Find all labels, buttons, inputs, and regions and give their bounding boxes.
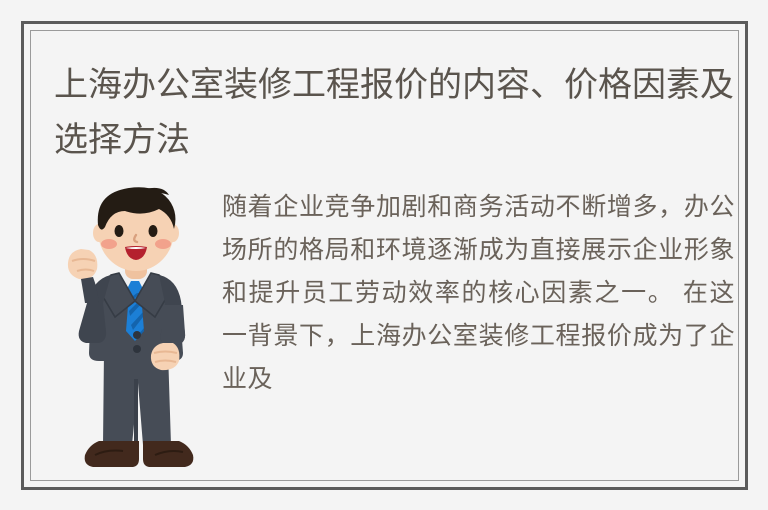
article-summary-text: 随着企业竞争加剧和商务活动不断增多，办公场所的格局和环境逐渐成为直接展示企业形象… (222, 186, 735, 401)
right-blush (155, 239, 171, 249)
jacket-button-bottom (133, 345, 141, 353)
raised-forearm (81, 277, 99, 303)
right-eye (149, 225, 158, 237)
jacket-button-top (133, 331, 141, 339)
hip-hand (151, 343, 179, 370)
right-shoe (143, 441, 193, 467)
article-title: 上海办公室装修工程报价的内容、价格因素及选择方法 (54, 58, 734, 168)
left-blush (101, 239, 117, 249)
left-shoe (85, 441, 139, 467)
trouser-center-seam (134, 379, 138, 445)
article-card: 上海办公室装修工程报价的内容、价格因素及选择方法 (21, 21, 748, 490)
left-eye (115, 225, 124, 237)
raised-fist (68, 249, 97, 279)
article-card-inner-border: 上海办公室装修工程报价的内容、价格因素及选择方法 (30, 30, 739, 481)
businessman-cheering-illustration (59, 183, 213, 483)
right-ear (167, 224, 179, 242)
